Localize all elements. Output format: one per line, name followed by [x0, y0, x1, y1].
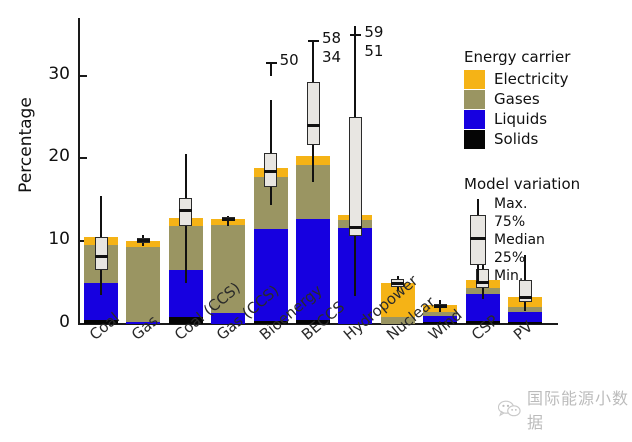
model-variation-label-median: Median: [494, 233, 545, 247]
boxplot-gas: [137, 0, 150, 442]
y-axis-line: [78, 18, 80, 325]
boxplot-hydropower: [349, 0, 362, 442]
median-line: [137, 239, 150, 242]
legend-swatch-gases: [464, 90, 485, 109]
legend-swatch-electricity: [464, 70, 485, 89]
box-iqr: [179, 198, 192, 226]
legend-item-liquids: Liquids: [464, 109, 632, 129]
model-variation-label-25: 25%: [494, 251, 525, 265]
legend-label-electricity: Electricity: [494, 70, 569, 88]
legend-label-gases: Gases: [494, 90, 540, 108]
boxplot-coal: [95, 0, 108, 442]
model-variation-label-min: Min.: [494, 269, 523, 283]
annotation-value-58: 58: [322, 31, 341, 46]
legend-item-gases: Gases: [464, 89, 632, 109]
median-line: [349, 226, 362, 229]
median-line: [307, 124, 320, 127]
legend-energy-carrier: Energy carrier ElectricityGasesLiquidsSo…: [464, 48, 632, 149]
legend-swatch-liquids: [464, 110, 485, 129]
median-line: [519, 296, 532, 299]
whisker-stem: [354, 34, 356, 48]
median-line: [95, 255, 108, 258]
y-axis-label: Percentage: [16, 75, 36, 215]
chart-root: Percentage 0102030 CoalGasCoal (CCS)Gas …: [0, 0, 632, 442]
annotation-value-51: 51: [364, 44, 383, 59]
wechat-icon: [498, 399, 521, 419]
boxplot-wind: [434, 0, 447, 442]
boxplot-gas-ccs: [222, 0, 235, 442]
watermark-text: 国际能源小数据: [527, 385, 632, 433]
legend-label-solids: Solids: [494, 130, 538, 148]
box-iqr: [307, 82, 320, 145]
annotation-value-59: 59: [364, 25, 383, 40]
boxplot-beccs: [307, 0, 320, 442]
model-variation-body: Max.75%Median25%Min.: [464, 195, 632, 287]
boxplot-nuclear: [391, 0, 404, 442]
whisker-stem: [312, 40, 314, 54]
legend-items: ElectricityGasesLiquidsSolids: [464, 69, 632, 149]
legend-swatch-solids: [464, 130, 485, 149]
y-tick-label-0: 0: [36, 315, 70, 329]
model-variation-title: Model variation: [464, 175, 632, 193]
median-line: [264, 170, 277, 173]
boxplot-coal-ccs: [179, 0, 192, 442]
box-iqr: [349, 117, 362, 236]
y-tick-20: [80, 157, 87, 159]
annotation-value-34: 34: [322, 50, 341, 65]
whisker-stem: [270, 62, 272, 76]
boxplot-legend-glyph: [470, 197, 486, 285]
box-iqr: [95, 237, 108, 270]
median-line: [222, 218, 235, 221]
legend-item-electricity: Electricity: [464, 69, 632, 89]
legend-item-solids: Solids: [464, 129, 632, 149]
legend-label-liquids: Liquids: [494, 110, 547, 128]
y-tick-label-10: 10: [36, 232, 70, 246]
model-variation-label-max: Max.: [494, 197, 527, 211]
annotation-value-50: 50: [280, 53, 299, 68]
legend-model-variation: Model variation Max.75%Median25%Min.: [464, 175, 632, 287]
y-tick-label-30: 30: [36, 67, 70, 81]
legend-title: Energy carrier: [464, 48, 632, 66]
model-variation-label-75: 75%: [494, 215, 525, 229]
watermark: 国际能源小数据: [498, 385, 632, 433]
median-line: [179, 209, 192, 212]
y-tick-label-20: 20: [36, 149, 70, 163]
y-tick-30: [80, 75, 87, 77]
